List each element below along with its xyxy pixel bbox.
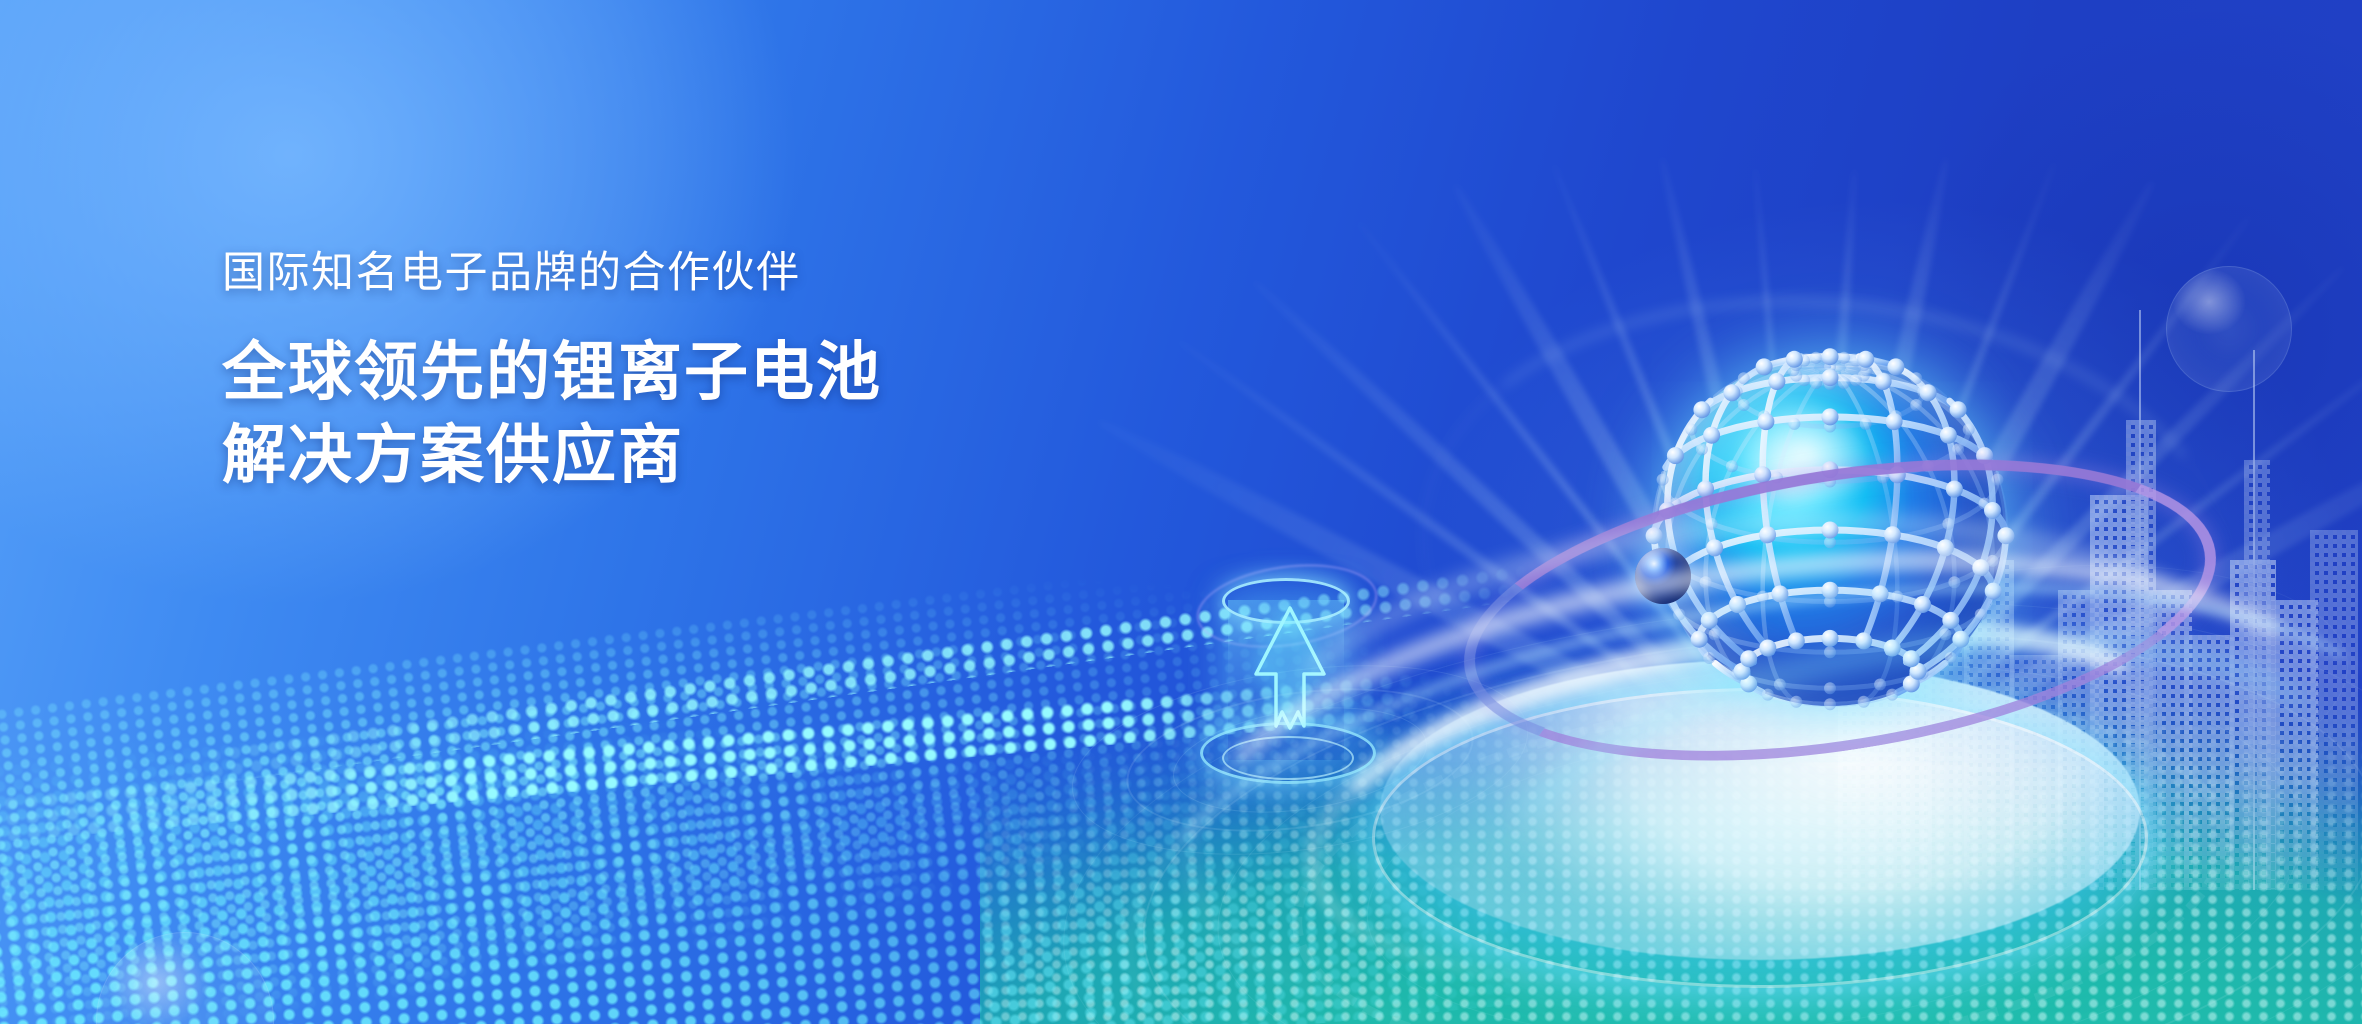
hero-banner: 国际知名电子品牌的合作伙伴 全球领先的锂离子电池 解决方案供应商 [0,0,2362,1024]
banner-eyebrow: 国际知名电子品牌的合作伙伴 [222,250,1122,297]
orbit-node-sphere [1635,548,1691,604]
banner-copy: 国际知名电子品牌的合作伙伴 全球领先的锂离子电池 解决方案供应商 [222,250,1122,498]
bubble-top-right [2166,266,2292,392]
banner-headline: 全球领先的锂离子电池 解决方案供应商 [222,331,1122,497]
upward-arrow-icon [1240,600,1340,770]
